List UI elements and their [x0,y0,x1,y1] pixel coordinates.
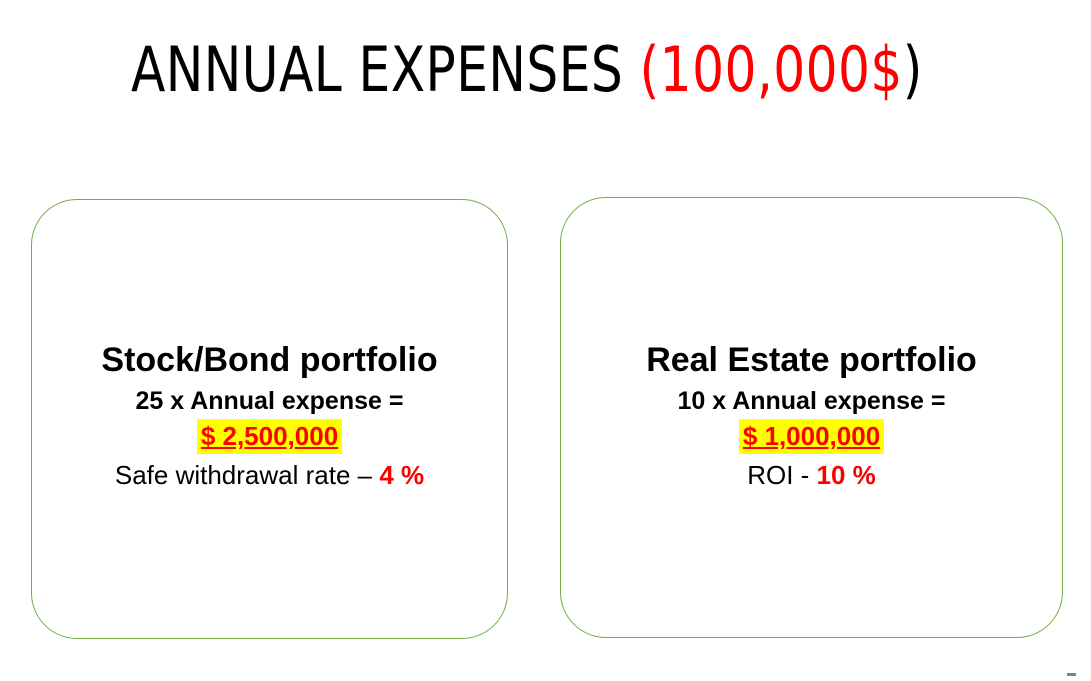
card-real-estate-multiplier: 10 x Annual expense = [561,385,1062,418]
card-real-estate-body: Real Estate portfolio 10 x Annual expens… [561,340,1062,493]
card-real-estate-portfolio: Real Estate portfolio 10 x Annual expens… [560,197,1063,638]
card-real-estate-heading: Real Estate portfolio [561,340,1062,380]
card-stock-bond-rate-line: Safe withdrawal rate – 4 % [32,457,507,493]
card-stock-bond-portfolio: Stock/Bond portfolio 25 x Annual expense… [31,199,508,639]
card-stock-bond-amount-line: $ 2,500,000 [32,418,507,454]
card-stock-bond-body: Stock/Bond portfolio 25 x Annual expense… [32,340,507,493]
card-real-estate-amount-highlight: $ 1,000,000 [739,419,884,454]
card-real-estate-amount-line: $ 1,000,000 [561,418,1062,454]
card-stock-bond-rate-value: 4 % [379,460,424,490]
card-stock-bond-heading: Stock/Bond portfolio [32,340,507,380]
card-real-estate-rate-value: 10 % [817,460,876,490]
page-title-prefix: ANNUAL EXPENSES [131,33,640,106]
card-real-estate-rate-label: ROI - [747,460,816,490]
page-title-amount: (100,000$ [640,33,903,106]
page-title: ANNUAL EXPENSES (100,000$) [131,34,923,106]
page-title-closing-paren: ) [903,33,923,106]
crop-edge-artifact [1067,673,1076,676]
card-stock-bond-amount-highlight: $ 2,500,000 [197,419,342,454]
card-stock-bond-rate-label: Safe withdrawal rate – [115,460,379,490]
card-real-estate-rate-line: ROI - 10 % [561,457,1062,493]
card-stock-bond-multiplier: 25 x Annual expense = [32,385,507,418]
